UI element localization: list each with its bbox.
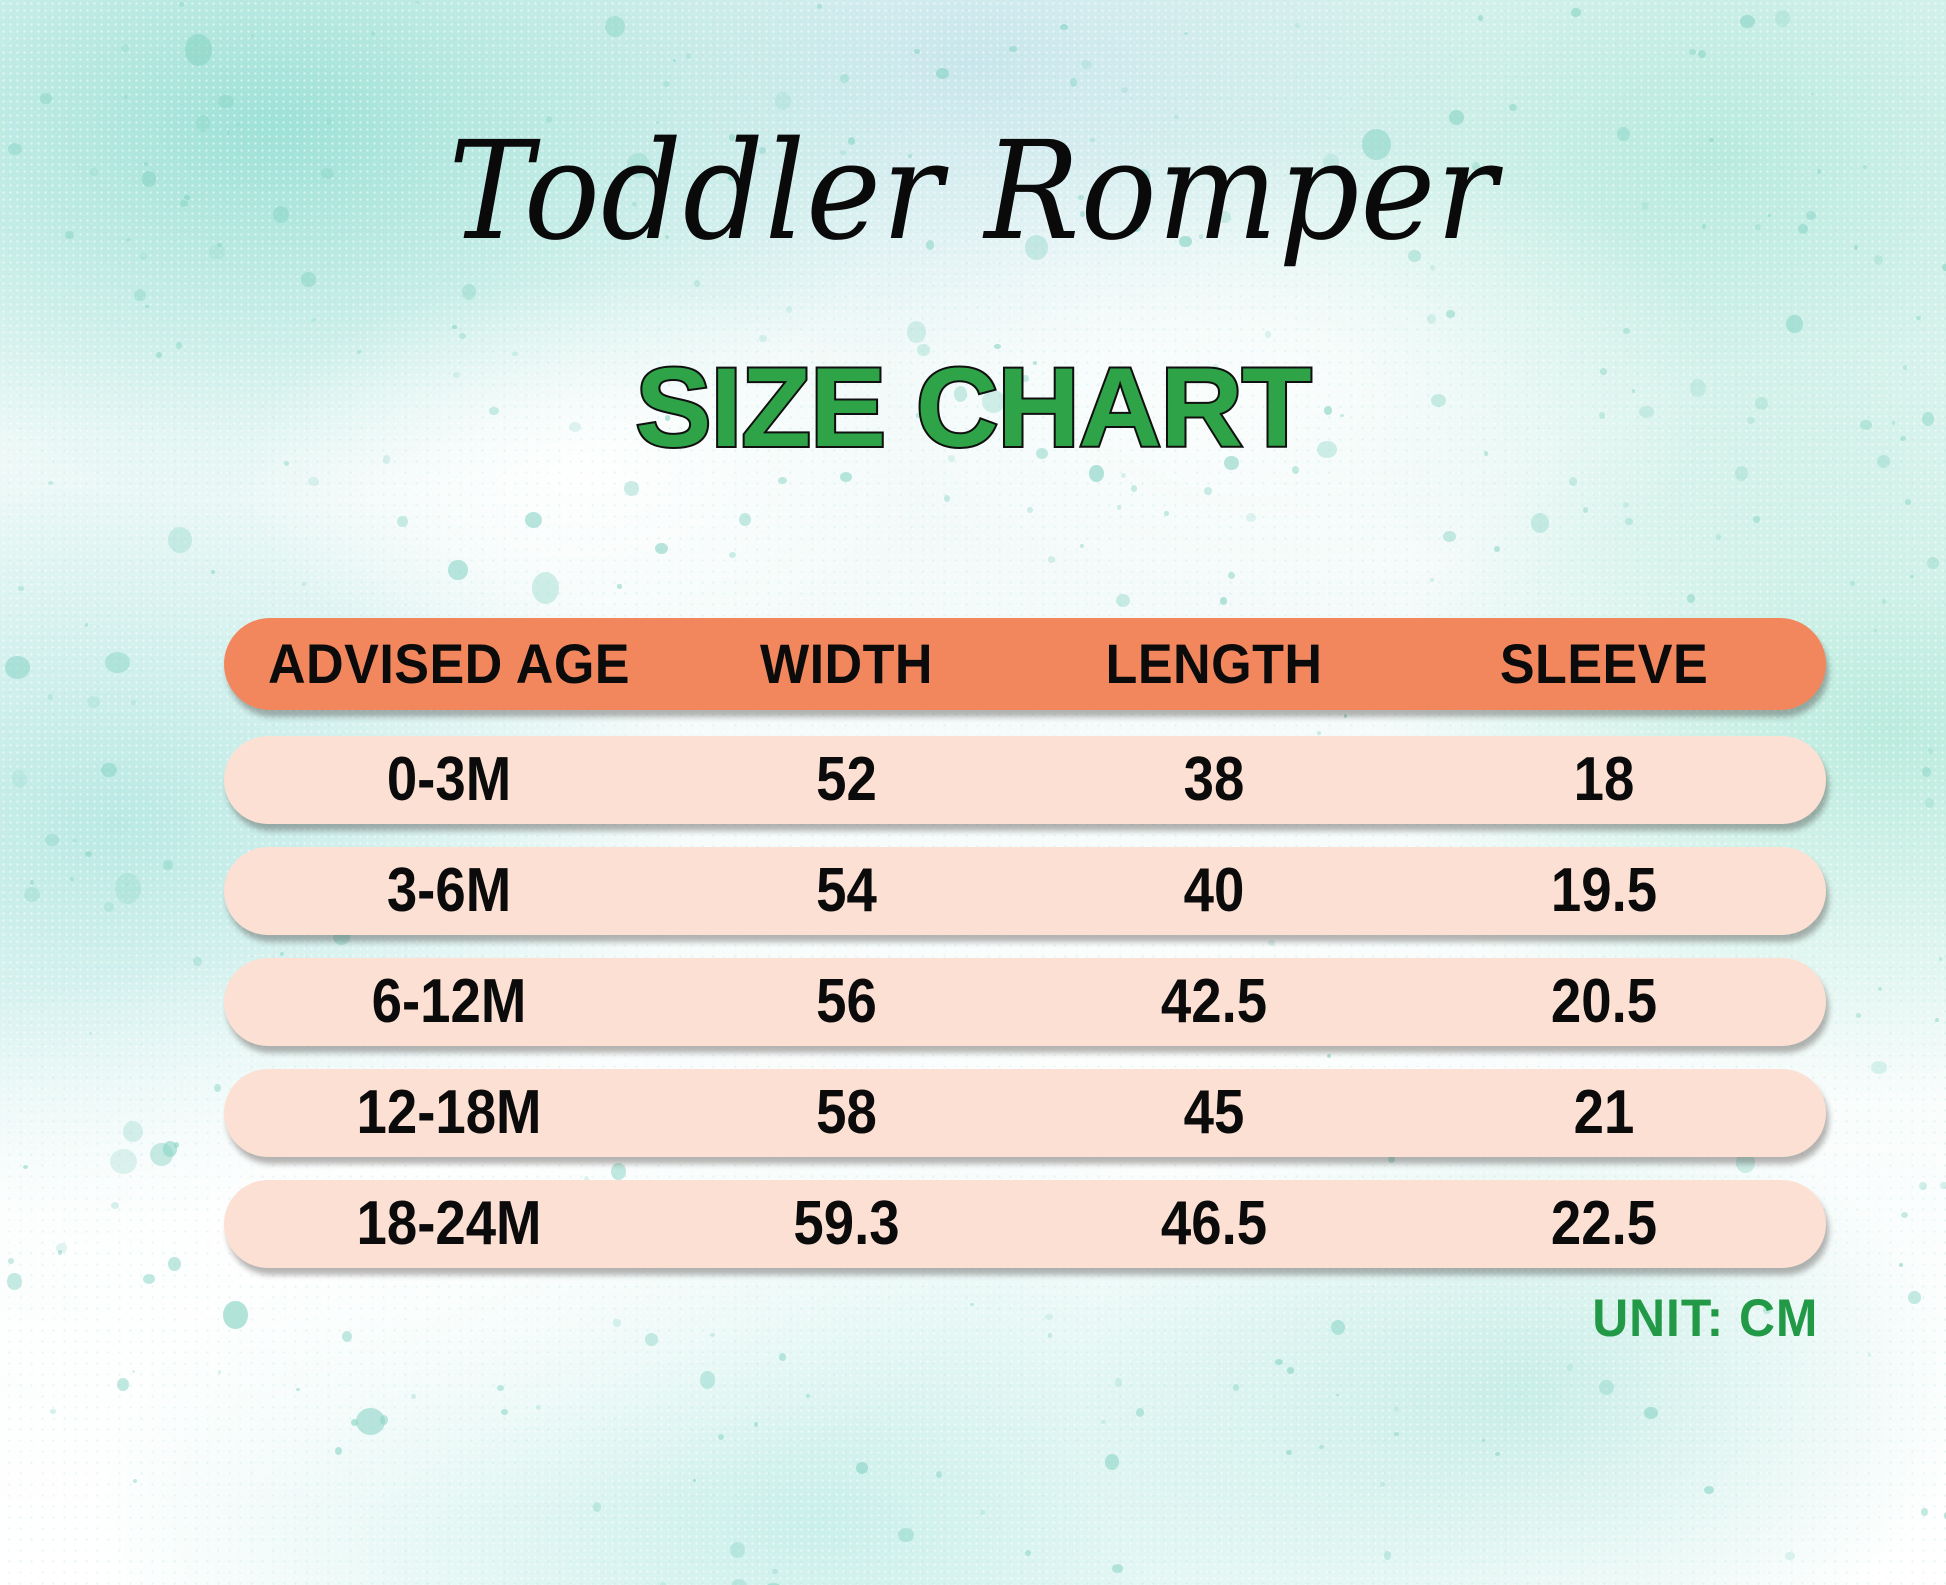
table-row: 0-3M 52 38 18 [224,736,1826,824]
cell-advised-age: 0-3M [251,749,647,811]
cell-length: 45 [1042,1082,1385,1144]
cell-sleeve: 18 [1432,749,1775,811]
column-header-advised-age: ADVISED AGE [240,636,659,692]
page-title: Toddler Romper [68,124,1878,260]
cell-length: 42.5 [1042,971,1385,1033]
cell-sleeve: 21 [1432,1082,1775,1144]
cell-width: 59.3 [695,1193,999,1255]
cell-sleeve: 22.5 [1432,1193,1775,1255]
size-chart-heading: SIZE CHART [0,352,1946,464]
unit-label: UNIT: CM [1593,1288,1819,1349]
cell-advised-age: 6-12M [251,971,647,1033]
cell-width: 54 [695,860,999,922]
column-header-sleeve: SLEEVE [1423,636,1786,692]
size-chart-table: ADVISED AGE WIDTH LENGTH SLEEVE 0-3M 52 … [224,618,1826,1291]
table-row: 18-24M 59.3 46.5 22.5 [224,1180,1826,1268]
cell-length: 38 [1042,749,1385,811]
table-row: 6-12M 56 42.5 20.5 [224,958,1826,1046]
size-chart-canvas: Toddler Romper SIZE CHART ADVISED AGE WI… [0,0,1946,1585]
cell-sleeve: 19.5 [1432,860,1775,922]
cell-advised-age: 18-24M [251,1193,647,1255]
table-header-row: ADVISED AGE WIDTH LENGTH SLEEVE [224,618,1826,710]
cell-width: 52 [695,749,999,811]
table-row: 3-6M 54 40 19.5 [224,847,1826,935]
column-header-width: WIDTH [686,636,1007,692]
cell-sleeve: 20.5 [1432,971,1775,1033]
cell-width: 58 [695,1082,999,1144]
cell-advised-age: 12-18M [251,1082,647,1144]
table-row: 12-18M 58 45 21 [224,1069,1826,1157]
cell-advised-age: 3-6M [251,860,647,922]
cell-length: 40 [1042,860,1385,922]
column-header-length: LENGTH [1033,636,1396,692]
cell-length: 46.5 [1042,1193,1385,1255]
cell-width: 56 [695,971,999,1033]
